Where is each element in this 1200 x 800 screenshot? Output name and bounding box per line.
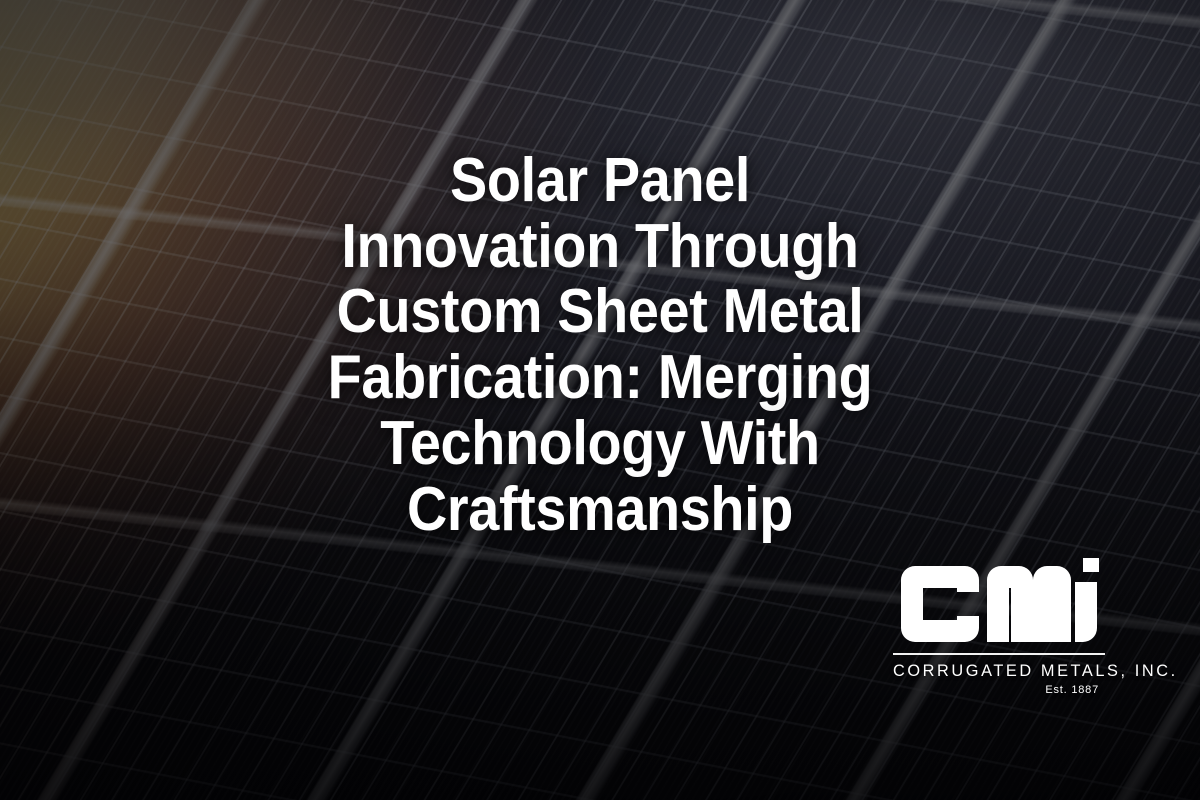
logo-divider-rule bbox=[893, 653, 1105, 655]
cmi-monogram-icon bbox=[893, 558, 1105, 650]
title-line-2: Innovation Through bbox=[267, 214, 933, 280]
company-name: CORRUGATED METALS, INC. bbox=[893, 661, 1097, 681]
banner-image: Solar Panel Innovation Through Custom Sh… bbox=[0, 0, 1200, 800]
title-line-4: Fabrication: Merging bbox=[267, 345, 933, 411]
title-line-5: Technology With bbox=[267, 411, 933, 477]
title-line-1: Solar Panel bbox=[267, 148, 933, 214]
page-title: Solar Panel Innovation Through Custom Sh… bbox=[230, 148, 970, 542]
established-year: Est. 1887 bbox=[893, 684, 1105, 696]
company-logo: CORRUGATED METALS, INC. Est. 1887 bbox=[893, 558, 1105, 696]
title-line-3: Custom Sheet Metal bbox=[267, 279, 933, 345]
title-line-6: Craftsmanship bbox=[267, 477, 933, 543]
